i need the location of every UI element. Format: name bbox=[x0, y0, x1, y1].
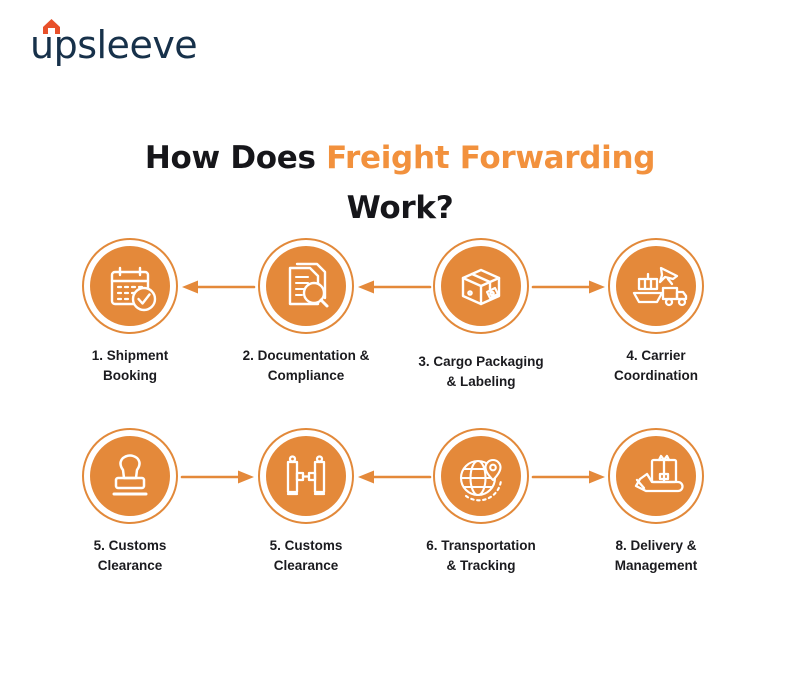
document-magnifier-icon bbox=[266, 246, 346, 326]
step-badge bbox=[258, 428, 354, 524]
page-title: How Does Freight Forwarding Work? bbox=[100, 133, 700, 233]
house-roof-icon bbox=[43, 19, 60, 34]
title-line1-plain: How Does bbox=[145, 140, 326, 176]
step-badge bbox=[608, 238, 704, 334]
step-label: 1. Shipment Booking bbox=[42, 346, 218, 386]
border-gate-icon bbox=[266, 436, 346, 516]
step-badge bbox=[433, 428, 529, 524]
hand-package-icon bbox=[616, 436, 696, 516]
step-badge bbox=[82, 428, 178, 524]
step-badge bbox=[258, 238, 354, 334]
step-label: 4. Carrier Coordination bbox=[568, 346, 744, 386]
flow-row-bottom: 5. Customs Clearance bbox=[0, 428, 800, 598]
step-label: 5. Customs Clearance bbox=[42, 536, 218, 576]
ship-plane-truck-icon bbox=[616, 246, 696, 326]
flow-step-delivery-management[interactable]: 8. Delivery & Management bbox=[568, 428, 744, 576]
step-label: 6. Transportation & Tracking bbox=[393, 536, 569, 576]
flow-step-customs-clearance-stamp[interactable]: 5. Customs Clearance bbox=[42, 428, 218, 576]
step-label: 3. Cargo Packaging & Labeling bbox=[393, 352, 569, 392]
title-line1-accent: Freight Forwarding bbox=[326, 140, 655, 176]
step-label: 5. Customs Clearance bbox=[218, 536, 394, 576]
flow-step-shipment-booking[interactable]: 1. Shipment Booking bbox=[42, 238, 218, 386]
step-badge bbox=[82, 238, 178, 334]
step-badge bbox=[608, 428, 704, 524]
flow-row-top: 1. Shipment Booking bbox=[0, 238, 800, 408]
flow-step-carrier-coordination[interactable]: 4. Carrier Coordination bbox=[568, 238, 744, 386]
package-box-tag-icon bbox=[441, 246, 521, 326]
calendar-check-icon bbox=[90, 246, 170, 326]
flow-step-customs-clearance-gate[interactable]: 5. Customs Clearance bbox=[218, 428, 394, 576]
step-badge bbox=[433, 238, 529, 334]
brand-wordmark: upsleeve bbox=[30, 22, 250, 68]
rubber-stamp-icon bbox=[90, 436, 170, 516]
flow-step-transportation-tracking[interactable]: 6. Transportation & Tracking bbox=[393, 428, 569, 576]
title-line2: Work? bbox=[347, 190, 454, 226]
flow-step-documentation-compliance[interactable]: 2. Documentation & Compliance bbox=[218, 238, 394, 386]
step-label: 2. Documentation & Compliance bbox=[218, 346, 394, 386]
globe-location-pin-icon bbox=[441, 436, 521, 516]
brand-logo: upsleeve bbox=[30, 22, 250, 82]
step-label: 8. Delivery & Management bbox=[568, 536, 744, 576]
flow-step-cargo-packaging-labeling[interactable]: 3. Cargo Packaging & Labeling bbox=[393, 238, 569, 392]
